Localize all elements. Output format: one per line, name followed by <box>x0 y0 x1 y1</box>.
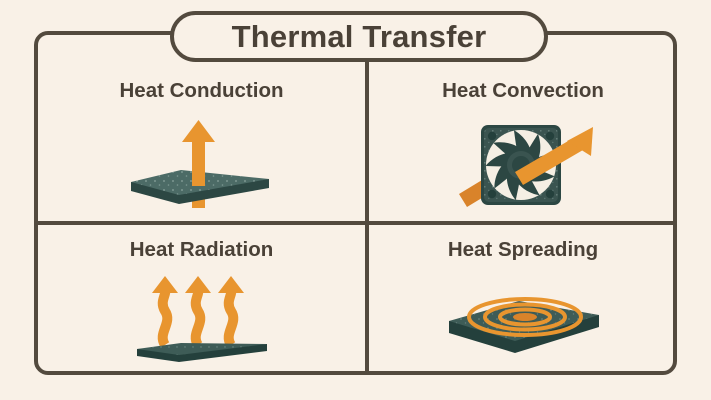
quadrant-heat-conduction: Heat Conduction <box>38 35 365 221</box>
plate-with-concentric-rings-icon <box>441 281 606 359</box>
icon-slot-heat-radiation <box>38 261 365 376</box>
quadrant-label-heat-radiation: Heat Radiation <box>130 240 274 261</box>
quadrant-label-heat-spreading: Heat Spreading <box>448 240 598 261</box>
plate-with-wavy-arrows-icon <box>127 273 277 365</box>
quadrant-heat-convection: Heat Convection <box>369 35 677 221</box>
page-title: Thermal Transfer <box>232 21 487 52</box>
quadrant-label-heat-conduction: Heat Conduction <box>120 81 284 102</box>
plate-with-up-arrow-icon <box>117 116 287 212</box>
thermal-transfer-infographic: Thermal Transfer Heat Conduction <box>0 0 711 400</box>
fan-with-diagonal-arrow-icon <box>443 113 603 213</box>
quadrant-heat-radiation: Heat Radiation <box>38 225 365 375</box>
title-pill: Thermal Transfer <box>170 11 548 62</box>
icon-slot-heat-convection <box>369 102 677 222</box>
icon-slot-heat-spreading <box>369 261 677 376</box>
quadrant-heat-spreading: Heat Spreading <box>369 225 677 375</box>
quadrant-label-heat-convection: Heat Convection <box>442 81 604 102</box>
icon-slot-heat-conduction <box>38 102 365 222</box>
